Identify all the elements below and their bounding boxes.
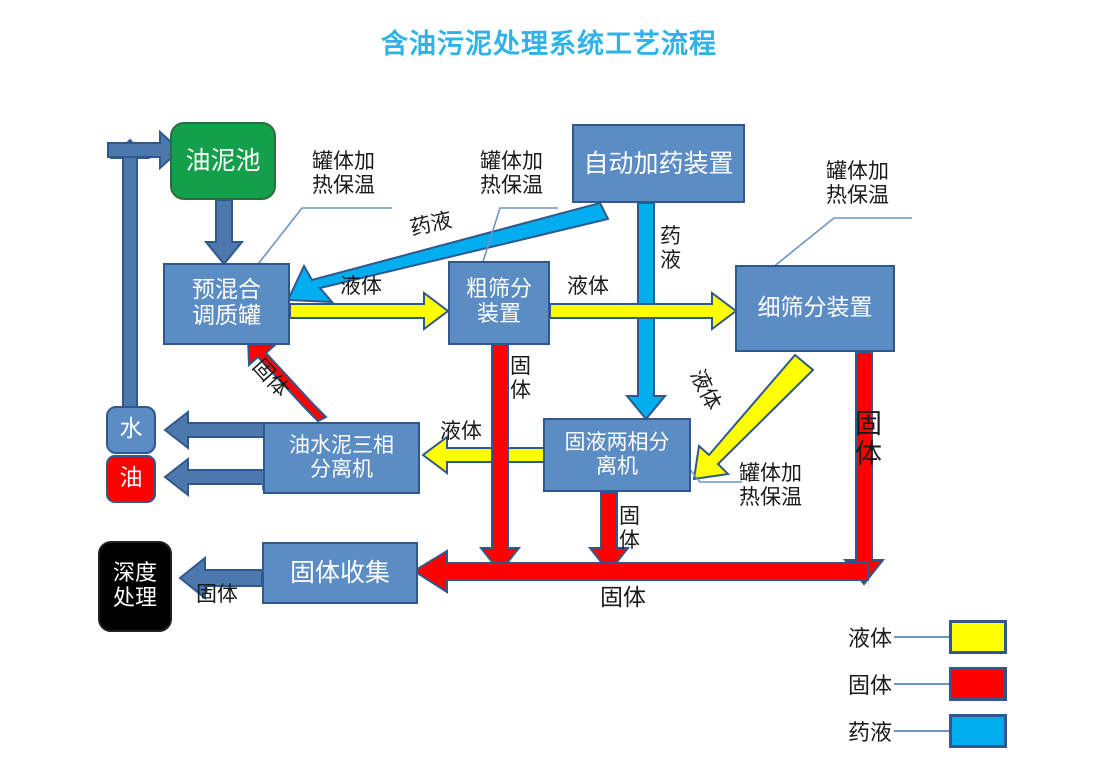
legend-swatch-liquid xyxy=(949,620,1007,654)
legend-connector-chemical xyxy=(894,730,949,732)
legend-item-chemical: 药液 xyxy=(848,714,1007,748)
legend: 液体 固体 药液 xyxy=(0,0,1098,764)
legend-connector-liquid xyxy=(894,636,949,638)
legend-swatch-chemical xyxy=(949,714,1007,748)
legend-label-solid: 固体 xyxy=(848,668,892,700)
legend-label-liquid: 液体 xyxy=(848,621,892,653)
legend-swatch-solid xyxy=(949,667,1007,701)
legend-item-solid: 固体 xyxy=(848,667,1007,701)
legend-label-chemical: 药液 xyxy=(848,715,892,747)
flowchart-canvas: 含油污泥处理系统工艺流程 xyxy=(0,0,1098,764)
legend-item-liquid: 液体 xyxy=(848,620,1007,654)
legend-connector-solid xyxy=(894,683,949,685)
